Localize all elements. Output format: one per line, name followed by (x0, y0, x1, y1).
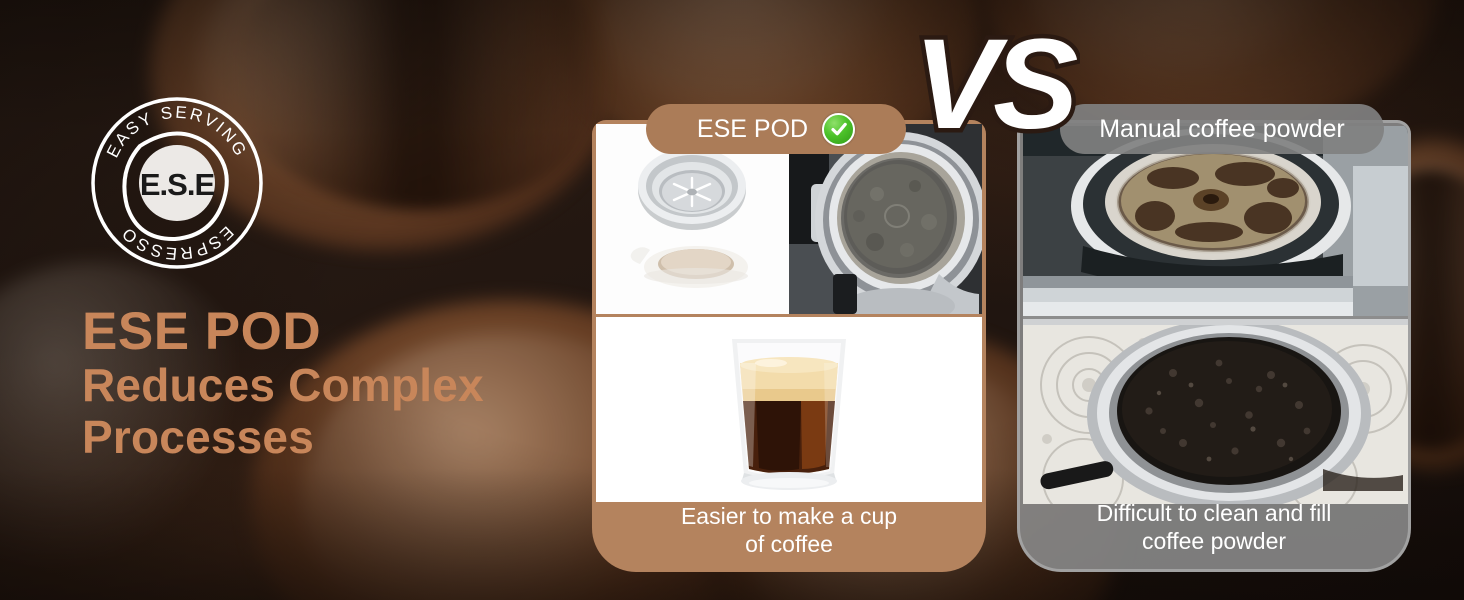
ese-pod-caption-line-1: Easier to make a cup (592, 502, 986, 530)
manual-powder-caption-line-1: Difficult to clean and fill (1020, 499, 1408, 527)
svg-text:E.S.E: E.S.E (140, 167, 215, 202)
manual-powder-caption-line-2: coffee powder (1020, 527, 1408, 555)
headline-line-3: Processes (82, 412, 602, 464)
manual-powder-tag-label: Manual coffee powder (1099, 115, 1345, 144)
headline-line-1: ESE POD (82, 304, 602, 360)
espresso-glass-photo (596, 314, 982, 502)
ese-pod-image-grid (596, 124, 982, 502)
comparison-panel-ese-pod: Easier to make a cup of coffee (592, 120, 986, 572)
ese-pod-tag: ESE POD (646, 104, 906, 154)
manual-powder-tag: Manual coffee powder (1060, 104, 1384, 154)
loose-grounds-portafilter-photo (1023, 316, 1409, 504)
comparison-panel-manual-powder: Difficult to clean and fill coffee powde… (1017, 120, 1411, 572)
manual-powder-image-grid (1023, 126, 1409, 504)
ese-logo: E.S.E EASY SERVING ESPRESSO (82, 88, 272, 278)
ese-pod-tag-label: ESE POD (697, 115, 808, 144)
vs-badge: VS (905, 16, 1080, 156)
dirty-group-head-photo (1023, 126, 1409, 316)
ese-pod-caption-line-2: of coffee (592, 530, 986, 558)
ese-pod-caption: Easier to make a cup of coffee (592, 502, 986, 558)
manual-powder-caption: Difficult to clean and fill coffee powde… (1020, 499, 1408, 555)
green-check-icon (822, 113, 855, 146)
svg-text:VS: VS (914, 16, 1078, 156)
headline-line-2: Reduces Complex (82, 360, 602, 412)
promo-banner: E.S.E EASY SERVING ESPRESSO ESE POD Redu… (0, 0, 1464, 600)
headline: ESE POD Reduces Complex Processes (82, 304, 602, 463)
